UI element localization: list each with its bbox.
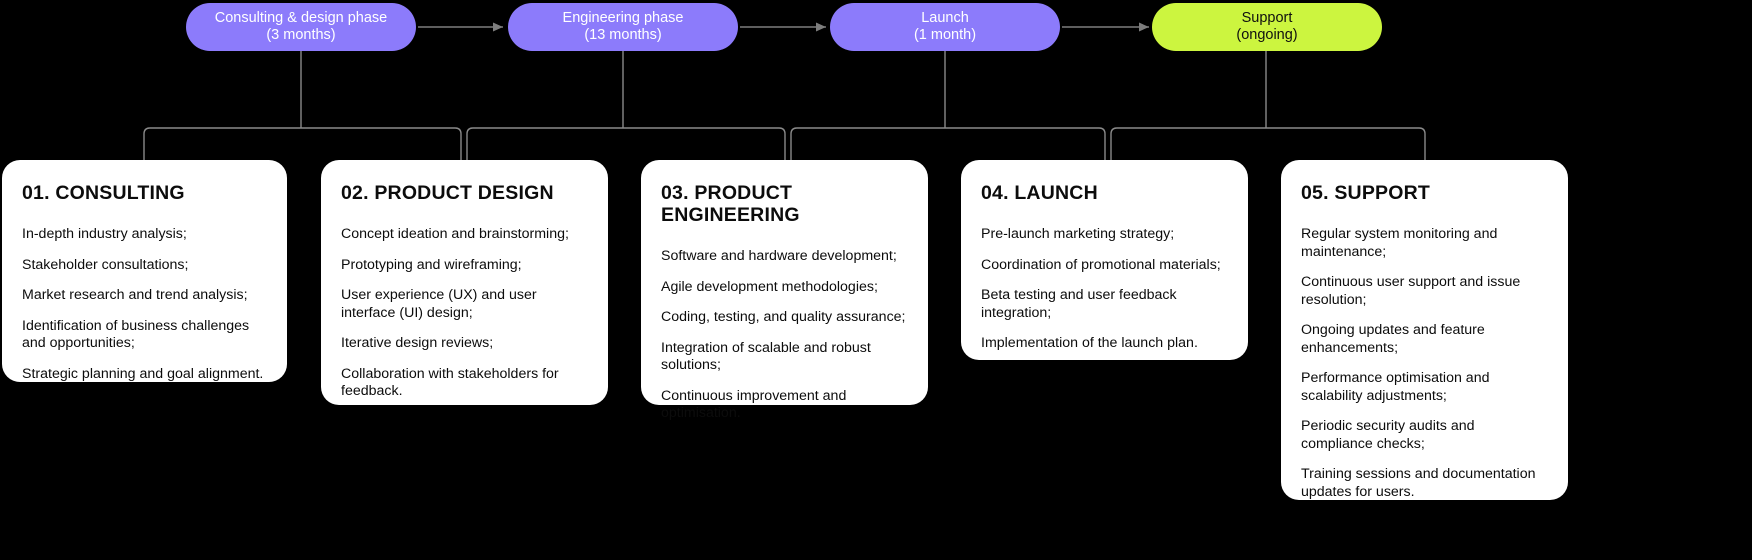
phase-title: Engineering phase: [563, 10, 684, 27]
list-item: Agile development methodologies;: [661, 279, 908, 297]
detail-card-consulting[interactable]: 01. CONSULTING In-depth industry analysi…: [2, 160, 287, 382]
list-item: Strategic planning and goal alignment.: [22, 366, 267, 384]
list-item: Coordination of promotional materials;: [981, 257, 1228, 275]
list-item: Implementation of the launch plan.: [981, 335, 1228, 353]
card-item-list: In-depth industry analysis; Stakeholder …: [22, 226, 267, 383]
phase-title: Launch: [914, 10, 976, 27]
phase-pill-consulting-design[interactable]: Consulting & design phase (3 months): [186, 3, 416, 51]
phase-pill-launch[interactable]: Launch (1 month): [830, 3, 1060, 51]
list-item: Collaboration with stakeholders for feed…: [341, 366, 588, 401]
list-item: Pre-launch marketing strategy;: [981, 226, 1228, 244]
list-item: Training sessions and documentation upda…: [1301, 466, 1548, 501]
detail-card-product-design[interactable]: 02. PRODUCT DESIGN Concept ideation and …: [321, 160, 608, 405]
list-item: Ongoing updates and feature enhancements…: [1301, 322, 1548, 357]
list-item: In-depth industry analysis;: [22, 226, 267, 244]
list-item: Market research and trend analysis;: [22, 287, 267, 305]
card-title: 02. PRODUCT DESIGN: [341, 182, 588, 204]
list-item: Prototyping and wireframing;: [341, 257, 588, 275]
list-item: Beta testing and user feedback integrati…: [981, 287, 1228, 322]
card-item-list: Regular system monitoring and maintenanc…: [1301, 226, 1548, 501]
list-item: Continuous user support and issue resolu…: [1301, 274, 1548, 309]
phase-duration: (3 months): [215, 27, 388, 44]
phase-title: Consulting & design phase: [215, 10, 388, 27]
detail-card-launch[interactable]: 04. LAUNCH Pre-launch marketing strategy…: [961, 160, 1248, 360]
list-item: Continuous improvement and optimisation.: [661, 388, 908, 423]
diagram-canvas: Consulting & design phase (3 months) Eng…: [0, 0, 1752, 560]
list-item: Software and hardware development;: [661, 248, 908, 266]
list-item: Concept ideation and brainstorming;: [341, 226, 588, 244]
list-item: Regular system monitoring and maintenanc…: [1301, 226, 1548, 261]
phase-duration: (1 month): [914, 27, 976, 44]
card-title: 05. SUPPORT: [1301, 182, 1548, 204]
card-title: 04. LAUNCH: [981, 182, 1228, 204]
card-item-list: Software and hardware development; Agile…: [661, 248, 908, 423]
phase-title: Support: [1236, 10, 1297, 27]
list-item: Integration of scalable and robust solut…: [661, 340, 908, 375]
phase-duration: (ongoing): [1236, 27, 1297, 44]
detail-card-product-engineering[interactable]: 03. PRODUCT ENGINEERING Software and har…: [641, 160, 928, 405]
phase-pill-support[interactable]: Support (ongoing): [1152, 3, 1382, 51]
card-title: 01. CONSULTING: [22, 182, 267, 204]
list-item: Stakeholder consultations;: [22, 257, 267, 275]
list-item: User experience (UX) and user interface …: [341, 287, 588, 322]
list-item: Identification of business challenges an…: [22, 318, 267, 353]
phase-pill-engineering[interactable]: Engineering phase (13 months): [508, 3, 738, 51]
card-item-list: Pre-launch marketing strategy; Coordinat…: [981, 226, 1228, 353]
card-item-list: Concept ideation and brainstorming; Prot…: [341, 226, 588, 401]
list-item: Periodic security audits and compliance …: [1301, 418, 1548, 453]
list-item: Performance optimisation and scalability…: [1301, 370, 1548, 405]
detail-card-support[interactable]: 05. SUPPORT Regular system monitoring an…: [1281, 160, 1568, 500]
list-item: Coding, testing, and quality assurance;: [661, 309, 908, 327]
list-item: Iterative design reviews;: [341, 335, 588, 353]
phase-duration: (13 months): [563, 27, 684, 44]
card-title: 03. PRODUCT ENGINEERING: [661, 182, 908, 226]
